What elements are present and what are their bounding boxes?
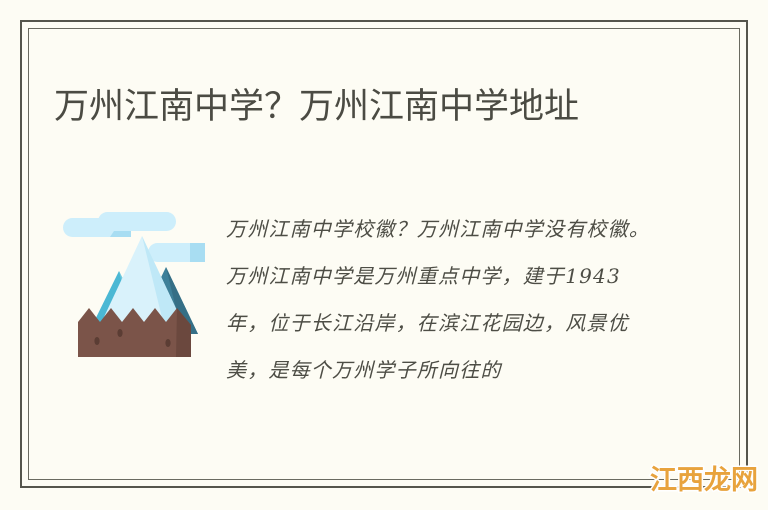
ground-dot-2-icon — [117, 329, 122, 337]
site-watermark-text: 江西龙网 — [650, 465, 758, 496]
article-card[interactable]: 万州江南中学校徽？万州江南中学没有校徽。万州江南中学是万州重点中学，建于1943… — [28, 198, 740, 428]
mountain-landscape-icon — [58, 210, 213, 365]
ground-dot-3-icon — [165, 339, 170, 347]
site-watermark: 江西龙网 — [650, 467, 758, 494]
page-title: 万州江南中学？万州江南中学地址 — [54, 81, 664, 133]
page-root: 万州江南中学？万州江南中学地址 — [0, 0, 768, 510]
cloud-top-icon — [98, 212, 176, 231]
page-content: 万州江南中学？万州江南中学地址 — [28, 28, 740, 480]
article-excerpt: 万州江南中学校徽？万州江南中学没有校徽。万州江南中学是万州重点中学，建于1943… — [226, 206, 658, 432]
cloud-right-shadow-icon — [190, 243, 205, 262]
ground-dot-1-icon — [94, 337, 99, 345]
ground-icon — [78, 308, 191, 357]
article-thumbnail[interactable] — [58, 210, 213, 365]
